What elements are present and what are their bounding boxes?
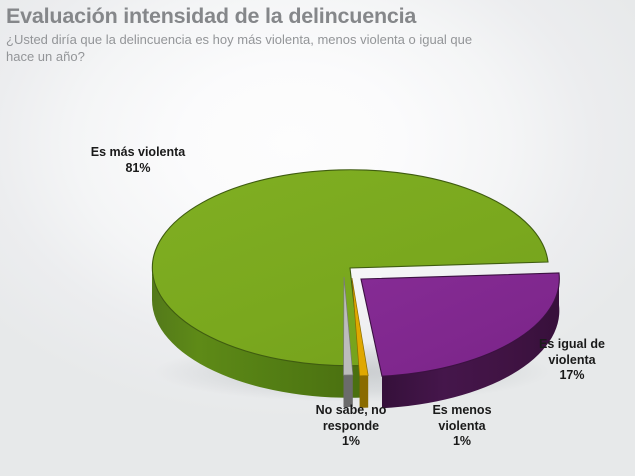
pie-label-es-mas-violenta-name: Es más violenta: [48, 145, 228, 161]
pie-label-es-mas-violenta: Es más violenta 81%: [48, 145, 228, 176]
chart-canvas: Evaluación intensidad de la delincuencia…: [0, 0, 635, 476]
pie-label-es-igual-de-violenta-name-1: Es igual de: [516, 337, 628, 353]
pie-label-es-igual-de-violenta-value: 17%: [516, 368, 628, 384]
pie-label-es-menos-violenta-name-2: violenta: [412, 419, 512, 435]
pie-label-es-mas-violenta-value: 81%: [48, 161, 228, 177]
pie-label-es-menos-violenta-name-1: Es menos: [412, 403, 512, 419]
pie-label-no-sabe-no-responde-name-1: No sabe, no: [292, 403, 410, 419]
pie-label-no-sabe-no-responde-name-2: responde: [292, 419, 410, 435]
pie-label-es-igual-de-violenta-name-2: violenta: [516, 353, 628, 369]
pie-label-es-igual-de-violenta: Es igual de violenta 17%: [516, 337, 628, 384]
pie-label-no-sabe-no-responde: No sabe, no responde 1%: [292, 403, 410, 450]
pie-label-no-sabe-no-responde-value: 1%: [292, 434, 410, 450]
pie-label-es-menos-violenta-value: 1%: [412, 434, 512, 450]
pie-label-es-menos-violenta: Es menos violenta 1%: [412, 403, 512, 450]
